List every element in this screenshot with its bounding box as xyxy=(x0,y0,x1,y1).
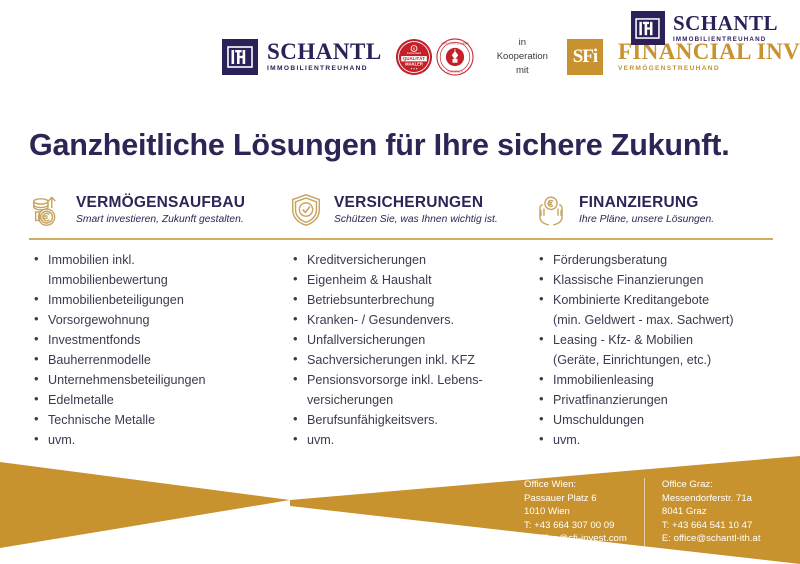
office-graz-street: Messendorferstr. 71a xyxy=(662,492,761,506)
service-column-finanzierung: FINANZIERUNG Ihre Pläne, unsere Lösungen… xyxy=(532,188,774,232)
list-item: Kranken- / Gesundenvers. xyxy=(292,310,542,330)
list-item: Technische Metalle xyxy=(33,410,288,430)
qualitaetsmakler-seal: € QUALITÄT MAKLER Fachverband ★ ★ ★ xyxy=(395,38,433,76)
shield-check-icon xyxy=(287,191,325,229)
office-wien-city: 1010 Wien xyxy=(524,505,627,519)
list-item: Berufsunfähigkeitsvers. xyxy=(292,410,542,430)
cooperation-note: in Kooperation mit xyxy=(497,36,548,77)
column-title-group: FINANZIERUNG Ihre Pläne, unsere Lösungen… xyxy=(579,194,714,225)
office-graz-email[interactable]: E: office@schantl-ith.at xyxy=(662,532,761,546)
list-item: Pensionsvorsorge inkl. Lebens- xyxy=(292,370,542,390)
corner-schantl-subtitle: IMMOBILIENTREUHAND xyxy=(673,37,778,43)
service-list-versicherungen: KreditversicherungenEigenheim & Haushalt… xyxy=(292,250,542,450)
list-item: (Geräte, Einrichtungen, etc.) xyxy=(538,350,788,370)
office-graz-label: Office Graz: xyxy=(662,478,761,492)
sfi-logo-mark: SFi xyxy=(567,39,603,75)
column-tagline: Schützen Sie, was Ihnen wichtig ist. xyxy=(334,214,498,225)
ith-logo-mark xyxy=(222,39,258,75)
schantl-subtitle: IMMOBILIENTREUHAND xyxy=(267,66,382,73)
column-title: FINANZIERUNG xyxy=(579,194,714,211)
column-tagline: Ihre Pläne, unsere Lösungen. xyxy=(579,214,714,225)
list-item: Sachversicherungen inkl. KFZ xyxy=(292,350,542,370)
financial-invest-subtitle: VERMÖGENSTREUHAND xyxy=(618,66,800,73)
corner-ith-logo-mark xyxy=(631,11,665,45)
svg-text:QUALITÄT: QUALITÄT xyxy=(403,56,425,61)
footer-left-wedge xyxy=(0,462,290,548)
office-wien-block: Office Wien: Passauer Platz 6 1010 Wien … xyxy=(524,478,644,546)
office-wien-phone[interactable]: T: +43 664 307 00 09 xyxy=(524,519,627,533)
corner-schantl-logo: SCHANTL IMMOBILIENTREUHAND xyxy=(631,11,778,45)
list-item: Bauherrenmodelle xyxy=(33,350,288,370)
list-item: Investmentfonds xyxy=(33,330,288,350)
corner-schantl-wordmark: SCHANTL IMMOBILIENTREUHAND xyxy=(673,13,778,43)
financial-invest-wordmark: FINANCIAL INVEST VERMÖGENSTREUHAND xyxy=(618,40,800,73)
column-header: FINANZIERUNG Ihre Pläne, unsere Lösungen… xyxy=(532,188,774,232)
service-list-vermoegensaufbau: Immobilien inkl.ImmobilienbewertungImmob… xyxy=(33,250,288,450)
service-list-finanzierung: FörderungsberatungKlassische Finanzierun… xyxy=(538,250,788,450)
list-item: Vorsorgewohnung xyxy=(33,310,288,330)
office-graz-phone[interactable]: T: +43 664 541 10 47 xyxy=(662,519,761,533)
cooperation-line-3: mit xyxy=(497,64,548,78)
office-graz-city: 8041 Graz xyxy=(662,505,761,519)
list-item: Edelmetalle xyxy=(33,390,288,410)
hands-holding-euro-icon xyxy=(532,191,570,229)
service-column-headers: VERMÖGENSAUFBAU Smart investieren, Zukun… xyxy=(29,188,774,232)
schantl-wordmark: SCHANTL IMMOBILIENTREUHAND xyxy=(267,40,382,73)
column-header: VERMÖGENSAUFBAU Smart investieren, Zukun… xyxy=(29,188,287,232)
office-wien-label: Office Wien: xyxy=(524,478,627,492)
office-wien-email[interactable]: E: office@sfi-invest.com xyxy=(524,532,627,546)
list-item: Immobilienbeteiligungen xyxy=(33,290,288,310)
cooperation-line-1: in xyxy=(497,36,548,50)
certification-seals: € QUALITÄT MAKLER Fachverband ★ ★ ★ WIRT… xyxy=(395,38,474,76)
column-title: VERMÖGENSAUFBAU xyxy=(76,194,245,211)
list-item: Förderungsberatung xyxy=(538,250,788,270)
list-item: Immobilienleasing xyxy=(538,370,788,390)
service-column-vermoegensaufbau: VERMÖGENSAUFBAU Smart investieren, Zukun… xyxy=(29,188,287,232)
list-item: Betriebsunterbrechung xyxy=(292,290,542,310)
list-item: Kreditversicherungen xyxy=(292,250,542,270)
schantl-name: SCHANTL xyxy=(267,40,382,63)
svg-text:ÖSTERREICH: ÖSTERREICH xyxy=(447,70,463,73)
service-column-versicherungen: VERSICHERUNGEN Schützen Sie, was Ihnen w… xyxy=(287,188,532,232)
list-item: Unfallversicherungen xyxy=(292,330,542,350)
column-title-group: VERSICHERUNGEN Schützen Sie, was Ihnen w… xyxy=(334,194,498,225)
header: SCHANTL IMMOBILIENTREUHAND € QUALITÄT MA… xyxy=(0,0,800,100)
page-headline: Ganzheitliche Lösungen für Ihre sichere … xyxy=(29,128,729,163)
list-item: Leasing - Kfz- & Mobilien xyxy=(538,330,788,350)
list-item: Klassische Finanzierungen xyxy=(538,270,788,290)
svg-text:Fachverband: Fachverband xyxy=(407,51,422,54)
list-item: Eigenheim & Haushalt xyxy=(292,270,542,290)
coins-euro-growth-icon xyxy=(29,191,67,229)
list-item: (min. Geldwert - max. Sachwert) xyxy=(538,310,788,330)
list-item: versicherungen xyxy=(292,390,542,410)
list-item: Unternehmensbeteiligungen xyxy=(33,370,288,390)
corner-schantl-name: SCHANTL xyxy=(673,13,778,34)
list-item: Privatfinanzierungen xyxy=(538,390,788,410)
sfi-mark-text: SFi xyxy=(573,46,597,68)
column-tagline: Smart investieren, Zukunft gestalten. xyxy=(76,214,245,225)
column-title-group: VERMÖGENSAUFBAU Smart investieren, Zukun… xyxy=(76,194,245,225)
austrian-crest-seal: WIRTSCHAFTSKAMMER ÖSTERREICH xyxy=(436,38,474,76)
svg-text:WIRTSCHAFTSKAMMER: WIRTSCHAFTSKAMMER xyxy=(441,42,469,45)
office-wien-street: Passauer Platz 6 xyxy=(524,492,627,506)
svg-text:MAKLER: MAKLER xyxy=(405,61,423,66)
list-item: Immobilienbewertung xyxy=(33,270,288,290)
office-graz-block: Office Graz: Messendorferstr. 71a 8041 G… xyxy=(644,478,761,546)
gold-divider-rule xyxy=(29,238,773,240)
column-title: VERSICHERUNGEN xyxy=(334,194,498,211)
list-item: Immobilien inkl. xyxy=(33,250,288,270)
cooperation-line-2: Kooperation xyxy=(497,50,548,64)
list-item: Umschuldungen xyxy=(538,410,788,430)
list-item: Kombinierte Kreditangebote xyxy=(538,290,788,310)
column-header: VERSICHERUNGEN Schützen Sie, was Ihnen w… xyxy=(287,188,532,232)
svg-text:★ ★ ★: ★ ★ ★ xyxy=(410,67,417,70)
footer-contact-blocks: Office Wien: Passauer Platz 6 1010 Wien … xyxy=(524,478,761,546)
